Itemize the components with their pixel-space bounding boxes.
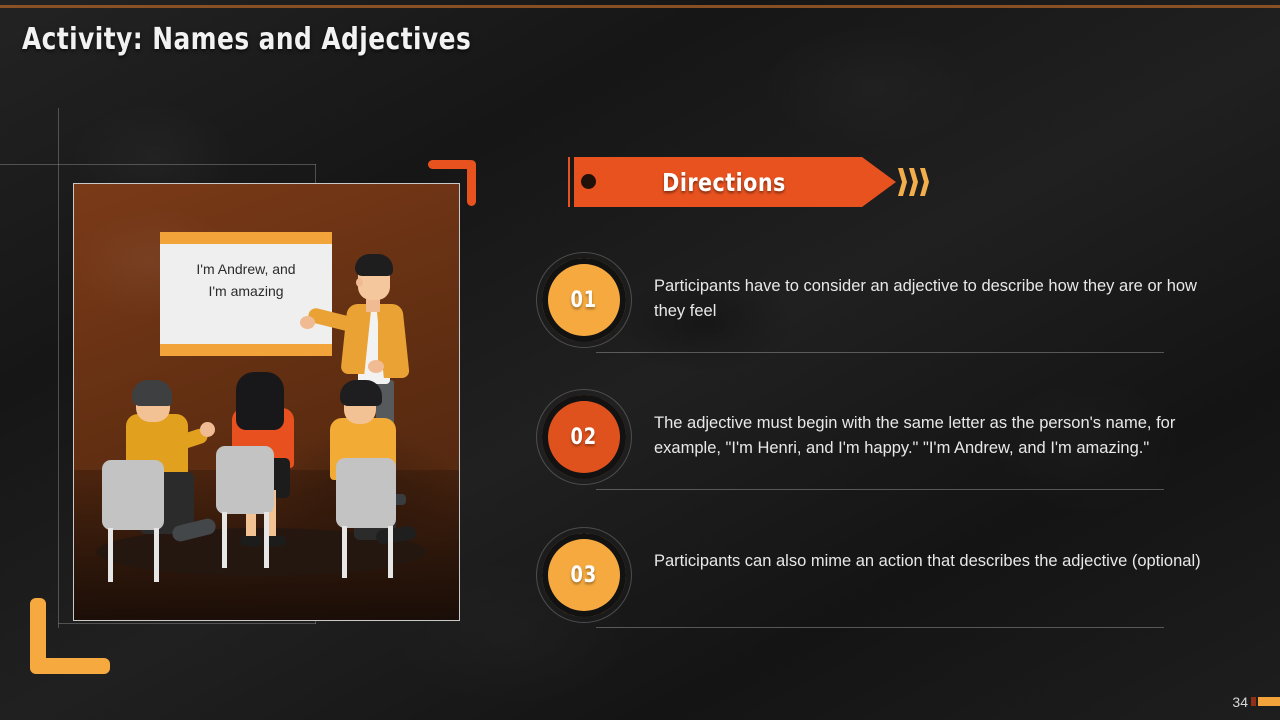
audience-1-chair-leg-right xyxy=(154,528,159,582)
badge-number-1: 01 xyxy=(571,288,598,313)
audience-2-hair xyxy=(236,372,284,430)
direction-text-3: Participants can also mime an action tha… xyxy=(654,549,1202,574)
whiteboard-line-2: I'm amazing xyxy=(160,280,332,302)
badge-number-2: 02 xyxy=(571,425,598,450)
page-accent-bar-small xyxy=(1251,697,1256,706)
audience-2-chair-leg-left xyxy=(222,512,227,568)
page-title: Activity: Names and Adjectives xyxy=(22,22,471,57)
banner-chevrons-icon xyxy=(898,168,929,196)
audience-figure-3 xyxy=(314,378,432,574)
direction-badge-2: 02 xyxy=(536,389,632,485)
classroom-illustration: I'm Andrew, and I'm amazing xyxy=(73,183,460,621)
direction-divider-3 xyxy=(596,627,1164,628)
presenter-hand-left xyxy=(300,316,315,329)
page-accent-bar-large xyxy=(1258,697,1280,706)
chevron-right-icon-3 xyxy=(920,168,929,196)
direction-text-1: Participants have to consider an adjecti… xyxy=(654,274,1202,324)
banner-label: Directions xyxy=(586,157,862,207)
audience-1-chair-back xyxy=(102,460,164,530)
whiteboard: I'm Andrew, and I'm amazing xyxy=(160,232,332,356)
badge-core-2: 02 xyxy=(548,401,620,473)
whiteboard-line-1: I'm Andrew, and xyxy=(160,258,332,280)
whiteboard-top-bar xyxy=(160,232,332,244)
audience-1-chair-leg-left xyxy=(108,528,113,582)
presenter-hair xyxy=(355,254,393,276)
frame-line-vertical-left xyxy=(58,108,59,628)
chevron-right-icon-2 xyxy=(909,168,918,196)
top-accent-rule xyxy=(0,5,1280,8)
page-number-accent-bars xyxy=(1251,697,1280,706)
audience-1-hair xyxy=(132,380,172,406)
direction-divider-2 xyxy=(596,489,1164,490)
direction-badge-1: 01 xyxy=(536,252,632,348)
corner-bracket-amber-icon xyxy=(30,598,112,674)
corner-bracket-orange-icon xyxy=(428,160,476,208)
direction-badge-3: 03 xyxy=(536,527,632,623)
frame-line-horizontal-top xyxy=(0,164,316,165)
direction-text-2: The adjective must begin with the same l… xyxy=(654,411,1202,461)
page-number: 34 xyxy=(1232,694,1248,710)
badge-number-3: 03 xyxy=(571,563,598,588)
audience-2-chair-back xyxy=(216,446,274,514)
audience-3-chair-leg-right xyxy=(388,526,393,578)
banner-tick-mark xyxy=(568,157,570,207)
whiteboard-text: I'm Andrew, and I'm amazing xyxy=(160,258,332,302)
presenter-ear xyxy=(356,278,363,287)
directions-banner: Directions xyxy=(568,157,948,207)
badge-core-3: 03 xyxy=(548,539,620,611)
audience-3-chair-leg-left xyxy=(342,526,347,578)
audience-figure-1 xyxy=(102,380,220,570)
presentation-slide: Activity: Names and Adjectives I'm Andre… xyxy=(0,0,1280,720)
audience-2-chair-leg-right xyxy=(264,512,269,568)
whiteboard-bottom-bar xyxy=(160,344,332,356)
audience-figure-2 xyxy=(212,370,322,570)
chevron-right-icon-1 xyxy=(898,168,907,196)
direction-divider-1 xyxy=(596,352,1164,353)
presenter-hand-right xyxy=(368,360,384,373)
audience-3-hair xyxy=(340,380,382,406)
audience-2-shoe-left xyxy=(240,536,262,546)
audience-3-chair-back xyxy=(336,458,396,528)
badge-core-1: 01 xyxy=(548,264,620,336)
